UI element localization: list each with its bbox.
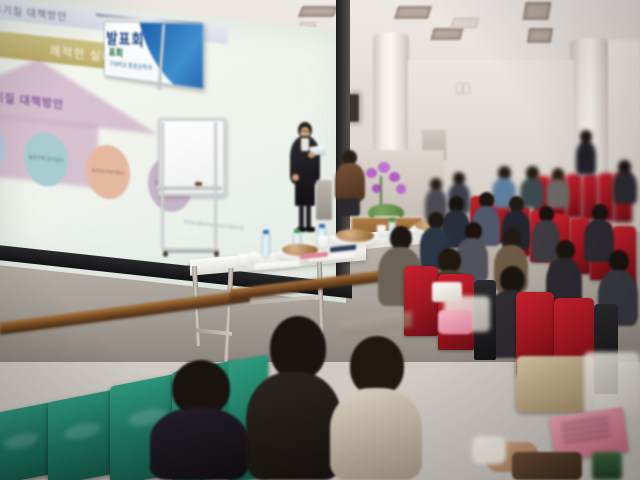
orchid-bloom: [378, 162, 390, 173]
bottle-cap: [263, 230, 269, 234]
pink-pouch: [438, 310, 472, 334]
beverage-can: [592, 452, 622, 480]
ceiling-light-fixture: [430, 28, 463, 40]
ceiling-light-fixture: [522, 2, 551, 20]
slide-bullet-oval: BAKE-OUT실시: [86, 143, 130, 202]
slide-bullet-label: 흡연구역 공기설치: [28, 154, 63, 165]
ceiling-light-fixture: [394, 6, 432, 19]
audience-head: [270, 316, 326, 380]
paper-cup: [249, 252, 258, 263]
orchid-bloom: [372, 184, 381, 193]
water-bottle: [262, 233, 270, 257]
ceiling-vent: [451, 18, 480, 28]
handbag: [516, 356, 594, 412]
folding-chair: [316, 180, 332, 220]
audience-member: [547, 168, 569, 208]
presenter-leg: [306, 205, 311, 229]
ceiling-light-fixture: [298, 6, 338, 17]
audience-head: [609, 250, 629, 272]
food-items: [336, 229, 374, 242]
presenter-shirt: [301, 138, 309, 151]
bottle-cap: [294, 229, 300, 233]
green-bench-seat[interactable]: [48, 390, 114, 480]
whiteboard-caster: [163, 251, 168, 257]
audience-body: [246, 372, 342, 480]
audience-head: [350, 336, 404, 396]
audience-head: [500, 266, 525, 293]
presenter-glasses: [300, 130, 310, 132]
whiteboard-base: [163, 248, 219, 253]
whiteboard-caster: [214, 251, 219, 257]
audience-body: [613, 172, 637, 204]
paper-cup: [318, 236, 328, 249]
paper-cup: [238, 254, 248, 266]
ceiling-light-fixture: [527, 28, 553, 43]
wall-outlet: [463, 83, 470, 94]
audience-body: [547, 179, 569, 208]
attendee-leg: [338, 198, 360, 216]
audience-member: [150, 360, 248, 480]
presenter-hand: [308, 152, 315, 158]
presenter-skirt: [295, 180, 315, 206]
whiteboard-marker-tray: [156, 186, 222, 190]
slide-bullet-label: BAKE-OUT실시: [92, 167, 124, 177]
banner-line-3: 구대학교 환경공학과: [109, 59, 152, 72]
audience-member: [246, 316, 342, 480]
bottle-cap: [319, 224, 325, 228]
conference-photo: 실내공기질 대책방안 쾌적한 실내환경 실내공기질 대책방안 환기 설비 흡연구…: [0, 0, 640, 480]
audience-member: [576, 130, 596, 176]
audience-member: [330, 336, 422, 480]
audience-body: [330, 388, 422, 480]
presenter-shoe: [306, 227, 315, 232]
presenter-leg: [299, 205, 304, 229]
attendee-sleeve: [512, 452, 582, 480]
whiteboard-marker: [195, 182, 202, 186]
green-bench-seat[interactable]: [0, 402, 52, 480]
whiteboard-post: [214, 122, 217, 250]
orchid-bloom: [366, 168, 377, 178]
banner-line-2: 표회: [109, 44, 123, 59]
white-box: [432, 282, 462, 302]
orchid-bloom: [389, 172, 400, 182]
audience-body: [576, 141, 596, 175]
tissue: [472, 436, 506, 464]
orchid-bloom: [396, 184, 406, 194]
audience-member: [613, 160, 637, 204]
audience-body: [150, 408, 248, 480]
plastic-bag: [584, 352, 640, 416]
presenter-hand: [292, 174, 299, 181]
bottle-cap: [389, 218, 395, 222]
wall-outlet: [456, 83, 463, 94]
whiteboard-post: [161, 122, 164, 250]
audience-head: [556, 240, 575, 260]
